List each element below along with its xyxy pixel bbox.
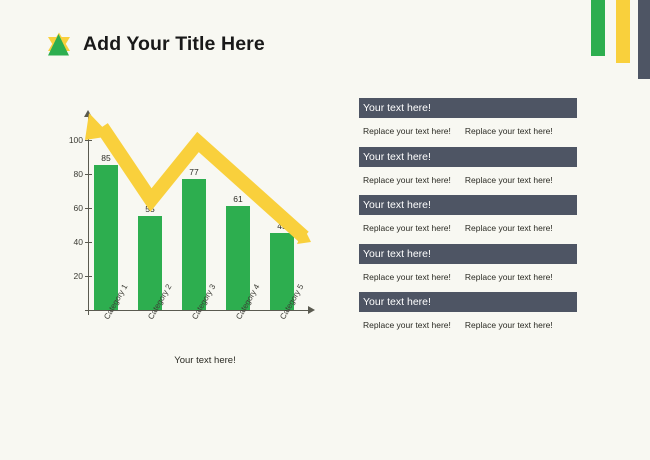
bar[interactable]: [182, 179, 206, 310]
page-title: Add Your Title Here: [83, 33, 265, 56]
bar-value-label: 61: [233, 195, 242, 204]
text-block: Your text here! Replace your text here! …: [359, 98, 577, 136]
x-axis-arrowhead: [308, 306, 315, 314]
block-header[interactable]: Your text here!: [359, 195, 577, 215]
block-body: Replace your text here! Replace your tex…: [359, 312, 577, 330]
y-tick-label: 80: [57, 170, 83, 179]
text-block: Your text here! Replace your text here! …: [359, 244, 577, 282]
y-tick-label: 60: [57, 204, 83, 213]
text-block-list: Your text here! Replace your text here! …: [359, 98, 577, 330]
block-body: Replace your text here! Replace your tex…: [359, 215, 577, 233]
yellow-accent-bar: [616, 0, 630, 63]
y-tick-label: 40: [57, 238, 83, 247]
bar-value-label: 55: [145, 205, 154, 214]
green-triangle-yellow-star-icon: [44, 29, 74, 59]
chart-caption: Your text here!: [115, 355, 295, 366]
y-tick: [85, 310, 92, 311]
plot-area: 85 55 77 61 45: [88, 120, 303, 310]
block-header[interactable]: Your text here!: [359, 147, 577, 167]
y-tick-label: 20: [57, 272, 83, 281]
block-header[interactable]: Your text here!: [359, 244, 577, 264]
bar-value-label: 85: [101, 154, 110, 163]
block-header[interactable]: Your text here!: [359, 292, 577, 312]
dark-accent-bar: [638, 0, 650, 79]
block-line: Replace your text here!: [465, 126, 553, 136]
text-block: Your text here! Replace your text here! …: [359, 195, 577, 233]
block-line: Replace your text here!: [465, 223, 553, 233]
block-line: Replace your text here!: [363, 223, 451, 233]
y-axis-arrowhead: [84, 110, 92, 117]
slide-canvas: Add Your Title Here 100 80 60 40 20: [0, 0, 650, 460]
bar-column[interactable]: 85: [94, 154, 118, 311]
block-body: Replace your text here! Replace your tex…: [359, 264, 577, 282]
title-row: Add Your Title Here: [44, 27, 265, 61]
bar-value-label: 45: [277, 222, 286, 231]
text-block: Your text here! Replace your text here! …: [359, 147, 577, 185]
block-line: Replace your text here!: [465, 320, 553, 330]
bar[interactable]: [94, 165, 118, 310]
block-line: Replace your text here!: [465, 272, 553, 282]
block-header[interactable]: Your text here!: [359, 98, 577, 118]
block-body: Replace your text here! Replace your tex…: [359, 118, 577, 136]
block-line: Replace your text here!: [363, 272, 451, 282]
block-line: Replace your text here!: [465, 175, 553, 185]
bar-chart[interactable]: 100 80 60 40 20 85 55: [55, 110, 350, 395]
block-line: Replace your text here!: [363, 320, 451, 330]
text-block: Your text here! Replace your text here! …: [359, 292, 577, 330]
y-tick-label: 100: [57, 136, 83, 145]
block-line: Replace your text here!: [363, 175, 451, 185]
block-body: Replace your text here! Replace your tex…: [359, 167, 577, 185]
block-line: Replace your text here!: [363, 126, 451, 136]
green-accent-bar: [591, 0, 605, 56]
bar-value-label: 77: [189, 168, 198, 177]
bar-column[interactable]: 77: [182, 168, 206, 311]
